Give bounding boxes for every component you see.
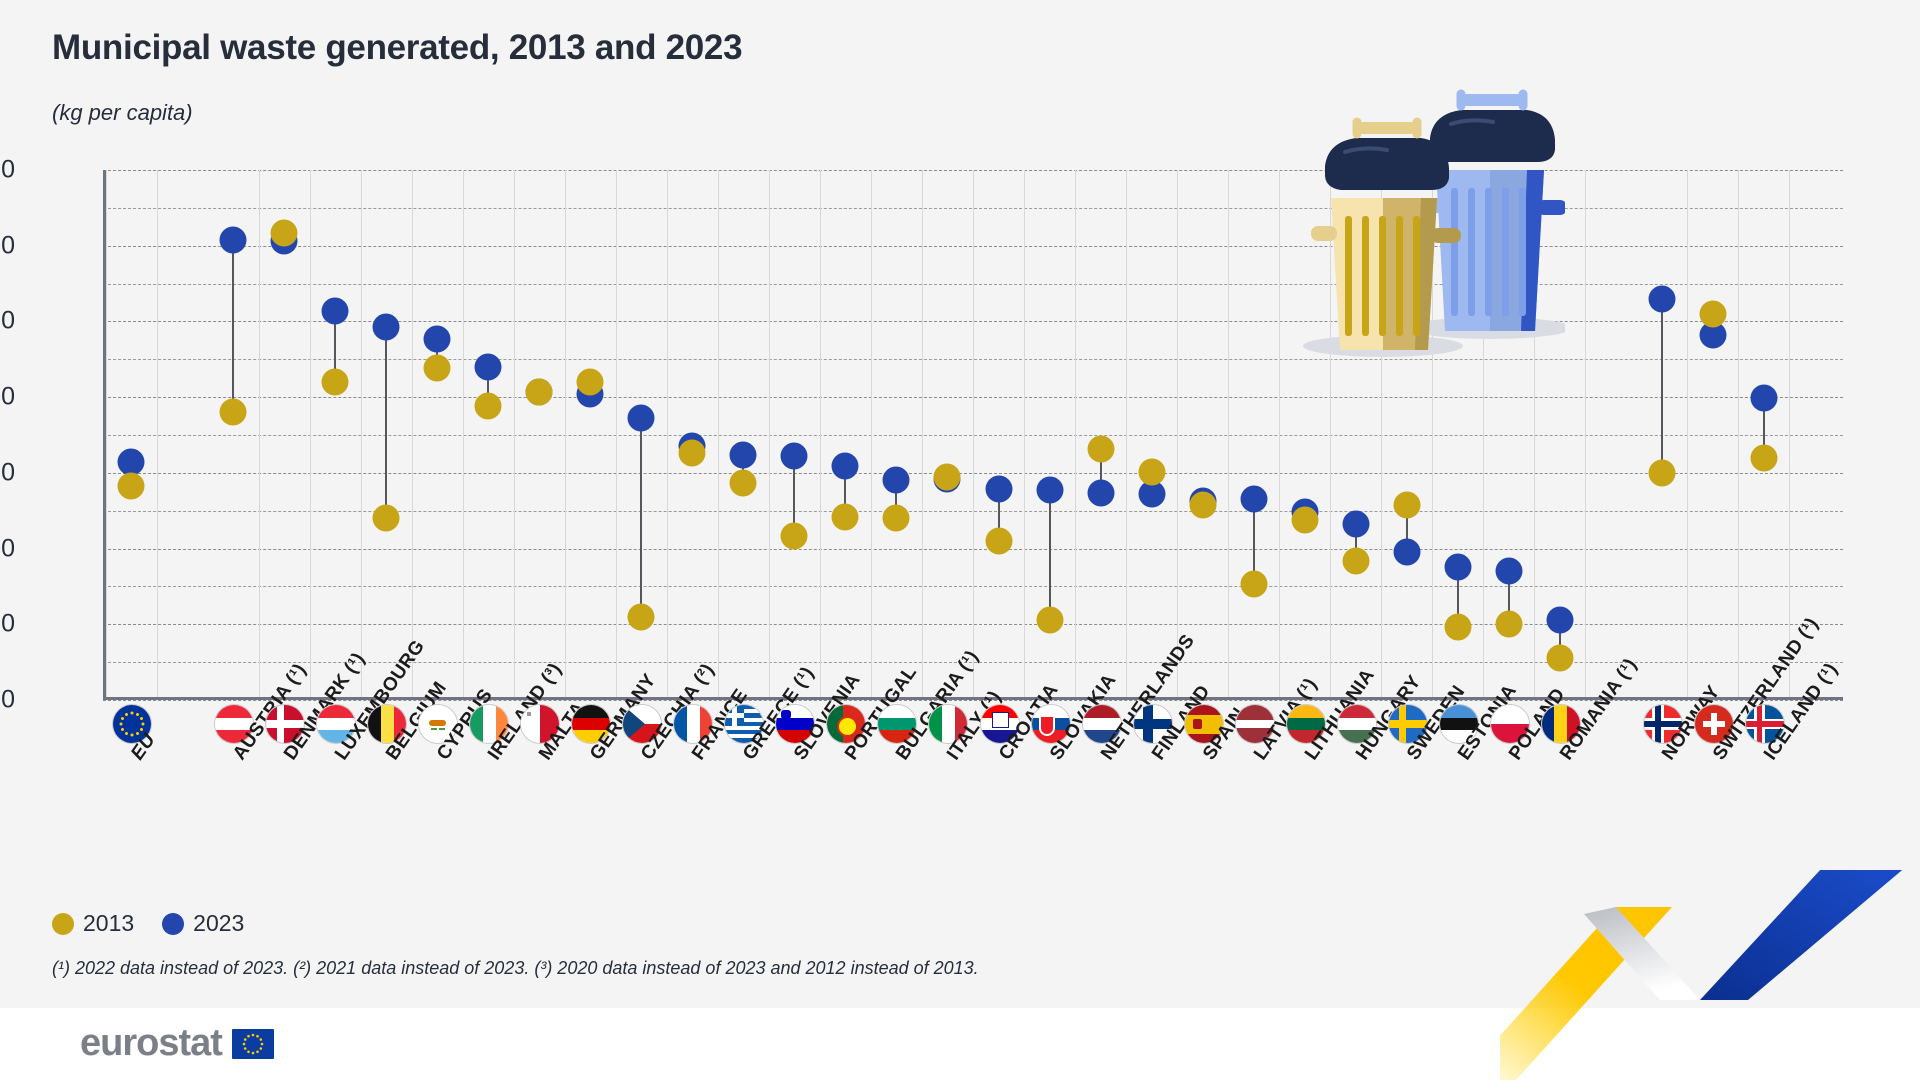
data-point-2013[interactable] [424, 354, 451, 381]
vertical-gridline [1585, 170, 1586, 700]
legend-item-2023[interactable]: 2023 [162, 910, 244, 937]
chart-footnote: (¹) 2022 data instead of 2023. (²) 2021 … [52, 958, 979, 979]
y-axis-tick-label: 300 [0, 610, 15, 639]
data-point-2023[interactable] [1240, 485, 1267, 512]
y-axis-tick-label: 800 [0, 231, 15, 260]
vertical-gridline [616, 170, 617, 700]
vertical-gridline [1228, 170, 1229, 700]
x-axis-line [103, 697, 1843, 700]
y-axis-tick-label: 500 [0, 458, 15, 487]
data-point-2013[interactable] [118, 472, 145, 499]
data-point-2013[interactable] [883, 504, 910, 531]
data-point-2013[interactable] [1036, 606, 1063, 633]
data-point-2013[interactable] [322, 369, 349, 396]
data-point-2023[interactable] [730, 441, 757, 468]
data-point-2023[interactable] [1342, 510, 1369, 537]
vertical-gridline [259, 170, 260, 700]
vertical-gridline [871, 170, 872, 700]
vertical-gridline [565, 170, 566, 700]
data-point-2013[interactable] [1750, 445, 1777, 472]
data-point-2013[interactable] [679, 440, 706, 467]
connector-line [1661, 299, 1663, 472]
waste-bins-illustration [1265, 88, 1565, 368]
vertical-gridline [922, 170, 923, 700]
page-subtitle: (kg per capita) [52, 100, 193, 126]
data-point-2023[interactable] [832, 453, 859, 480]
vertical-gridline [667, 170, 668, 700]
data-point-2023[interactable] [1495, 557, 1522, 584]
vertical-gridline [412, 170, 413, 700]
eurostat-logo-text: eurostat [80, 1022, 222, 1065]
vertical-gridline [1177, 170, 1178, 700]
data-point-2023[interactable] [1546, 606, 1573, 633]
data-point-2013[interactable] [934, 464, 961, 491]
data-point-2023[interactable] [628, 404, 655, 431]
legend-swatch-2013 [52, 913, 74, 935]
data-point-2013[interactable] [1342, 548, 1369, 575]
vertical-gridline [157, 170, 158, 700]
data-point-2023[interactable] [1036, 476, 1063, 503]
data-point-2023[interactable] [220, 227, 247, 254]
data-point-2013[interactable] [781, 522, 808, 549]
data-point-2023[interactable] [1087, 479, 1114, 506]
vertical-gridline [769, 170, 770, 700]
data-point-2013[interactable] [1444, 613, 1471, 640]
data-point-2013[interactable] [1240, 571, 1267, 598]
eurostat-logo: eurostat [80, 1022, 274, 1065]
data-point-2013[interactable] [1138, 459, 1165, 486]
data-point-2023[interactable] [373, 314, 400, 341]
data-point-2013[interactable] [526, 378, 553, 405]
data-point-2023[interactable] [781, 443, 808, 470]
data-point-2013[interactable] [1393, 491, 1420, 518]
data-point-2023[interactable] [883, 466, 910, 493]
legend-label-2013: 2013 [83, 910, 134, 937]
data-point-2023[interactable] [475, 353, 502, 380]
data-point-2013[interactable] [373, 505, 400, 532]
data-point-2013[interactable] [730, 469, 757, 496]
y-axis-tick-label: 600 [0, 383, 15, 412]
data-point-2013[interactable] [1189, 491, 1216, 518]
data-point-2013[interactable] [475, 393, 502, 420]
y-axis-line [103, 170, 106, 700]
y-axis-tick-label: 700 [0, 307, 15, 336]
data-point-2013[interactable] [985, 528, 1012, 555]
vertical-gridline [820, 170, 821, 700]
y-axis-tick-label: 400 [0, 534, 15, 563]
data-point-2013[interactable] [1648, 459, 1675, 486]
vertical-gridline [1687, 170, 1688, 700]
vertical-gridline [1075, 170, 1076, 700]
vertical-gridline [514, 170, 515, 700]
vertical-gridline [1738, 170, 1739, 700]
data-point-2013[interactable] [1087, 436, 1114, 463]
vertical-gridline [1126, 170, 1127, 700]
vertical-gridline [1024, 170, 1025, 700]
data-point-2013[interactable] [1699, 300, 1726, 327]
data-point-2013[interactable] [1291, 506, 1318, 533]
data-point-2013[interactable] [220, 398, 247, 425]
chart-legend: 2013 2023 [52, 910, 244, 937]
vertical-gridline [1789, 170, 1790, 700]
vertical-gridline [310, 170, 311, 700]
connector-line [1049, 490, 1051, 620]
page-title: Municipal waste generated, 2013 and 2023 [52, 28, 742, 68]
gridline [103, 700, 1843, 701]
vertical-gridline [973, 170, 974, 700]
data-point-2023[interactable] [985, 475, 1012, 502]
chart-plot-area: 900800700600500400300200 [103, 170, 1843, 700]
legend-label-2023: 2023 [193, 910, 244, 937]
legend-swatch-2023 [162, 913, 184, 935]
data-point-2023[interactable] [424, 325, 451, 352]
connector-line [232, 240, 234, 411]
data-point-2013[interactable] [577, 369, 604, 396]
connector-line [385, 327, 387, 518]
decorative-ribbon [1500, 870, 1920, 1080]
y-axis-tick-label: 900 [0, 156, 15, 185]
data-point-2013[interactable] [628, 603, 655, 630]
data-point-2013[interactable] [271, 219, 298, 246]
data-point-2023[interactable] [322, 297, 349, 324]
vertical-gridline [463, 170, 464, 700]
data-point-2023[interactable] [1750, 384, 1777, 411]
connector-line [640, 418, 642, 617]
data-point-2023[interactable] [1648, 286, 1675, 313]
eu-flag-icon [232, 1029, 274, 1059]
y-axis-tick-label: 200 [0, 686, 15, 715]
data-point-2023[interactable] [1393, 538, 1420, 565]
data-point-2013[interactable] [832, 503, 859, 530]
data-point-2023[interactable] [118, 448, 145, 475]
vertical-gridline [361, 170, 362, 700]
data-point-2013[interactable] [1495, 611, 1522, 638]
data-point-2013[interactable] [1546, 644, 1573, 671]
vertical-gridline [718, 170, 719, 700]
legend-item-2013[interactable]: 2013 [52, 910, 134, 937]
data-point-2023[interactable] [1444, 553, 1471, 580]
